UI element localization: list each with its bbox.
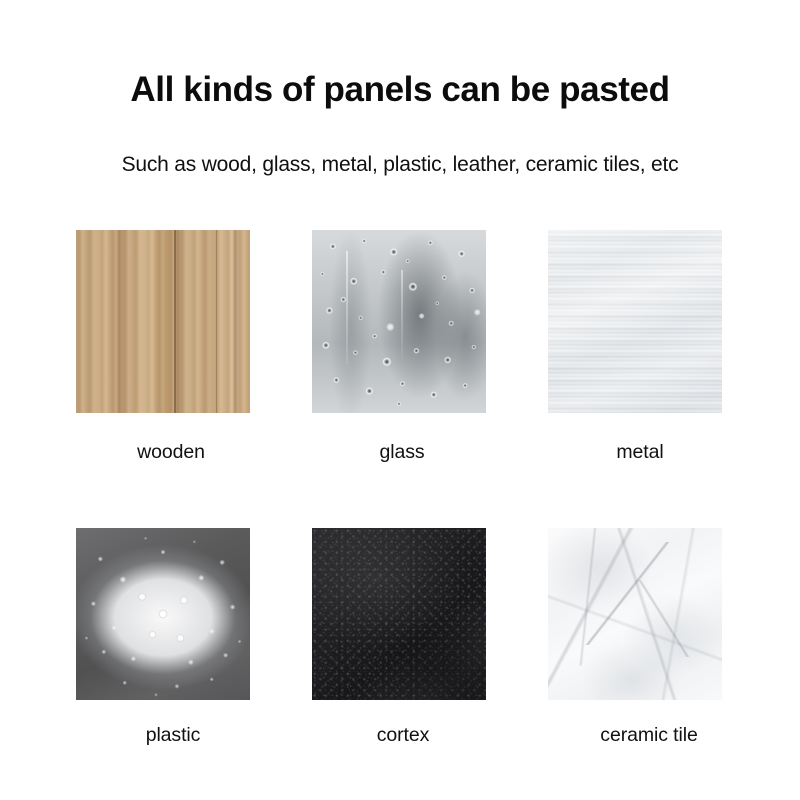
material-card-glass: glass — [312, 230, 486, 413]
material-caption-metal: metal — [553, 441, 727, 464]
material-caption-plastic: plastic — [86, 724, 260, 747]
wood-swatch — [76, 230, 250, 413]
material-card-plastic: plastic — [76, 528, 250, 700]
material-caption-glass: glass — [315, 441, 489, 464]
material-card-wooden: wooden — [76, 230, 250, 413]
material-gallery: wooden glass metal plastic cortex cerami… — [76, 230, 724, 750]
metal-swatch — [548, 230, 722, 413]
material-card-metal: metal — [548, 230, 722, 413]
page-title: All kinds of panels can be pasted — [0, 68, 800, 112]
material-card-cortex: cortex — [312, 528, 486, 700]
material-caption-cortex: cortex — [316, 724, 490, 747]
leather-swatch — [312, 528, 486, 700]
ceramic-swatch — [548, 528, 722, 700]
page-subtitle: Such as wood, glass, metal, plastic, lea… — [0, 150, 800, 180]
material-caption-wooden: wooden — [84, 441, 258, 464]
plastic-swatch — [76, 528, 250, 700]
glass-swatch — [312, 230, 486, 413]
material-caption-ceramic-tile: ceramic tile — [562, 724, 736, 747]
product-feature-panel: All kinds of panels can be pasted Such a… — [0, 0, 800, 800]
material-card-ceramic-tile: ceramic tile — [548, 528, 722, 700]
